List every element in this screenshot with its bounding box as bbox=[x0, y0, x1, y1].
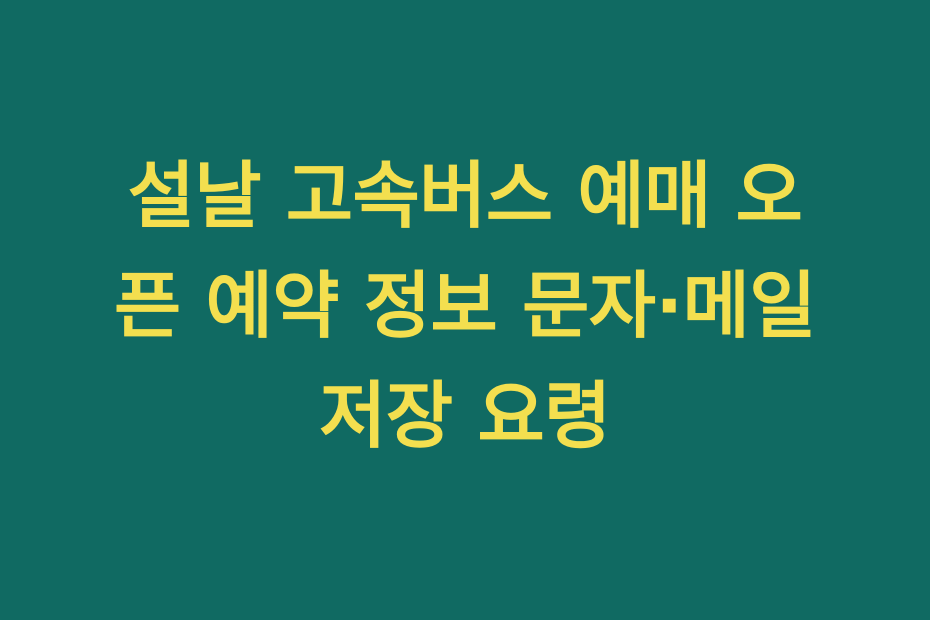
page-title: 설날 고속버스 예매 오 픈 예약 정보 문자·메일 저장 요령 bbox=[70, 142, 860, 472]
headline-block: 설날 고속버스 예매 오 픈 예약 정보 문자·메일 저장 요령 bbox=[70, 142, 860, 472]
title-card: 설날 고속버스 예매 오 픈 예약 정보 문자·메일 저장 요령 bbox=[0, 0, 930, 620]
